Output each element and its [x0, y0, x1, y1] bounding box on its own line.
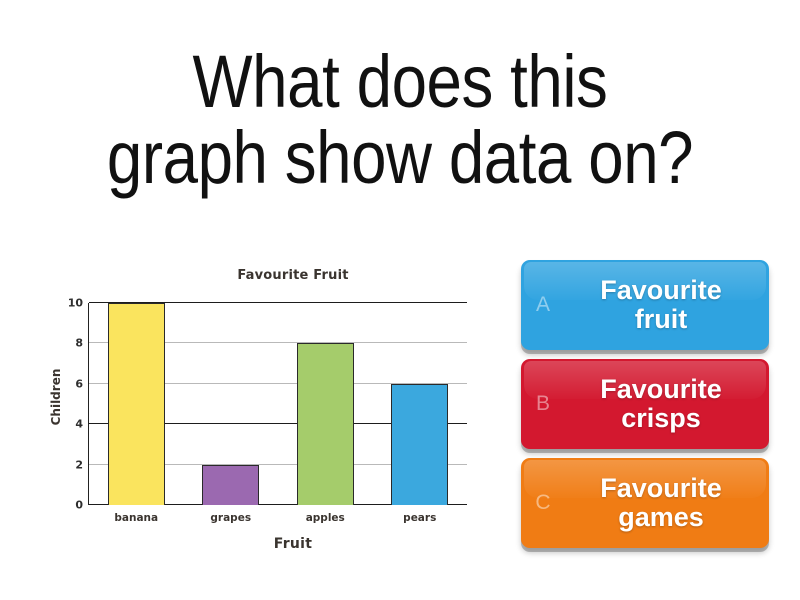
- x-tick-label: grapes: [185, 512, 276, 524]
- x-axis-label: Fruit: [88, 536, 498, 552]
- bar-slot: banana: [91, 303, 182, 505]
- bar-slot: pears: [374, 303, 465, 505]
- question-text: What does this graph show data on?: [56, 44, 744, 196]
- option-label: Favourite fruit: [565, 276, 769, 334]
- answer-option-b[interactable]: BFavourite crisps: [521, 359, 769, 449]
- quiz-screen: What does this graph show data on? Favou…: [0, 0, 800, 600]
- answer-option-c[interactable]: CFavourite games: [521, 458, 769, 548]
- bar-apples: [297, 343, 354, 505]
- bar-slot: grapes: [185, 303, 276, 505]
- y-tick-label: 4: [57, 418, 83, 431]
- answer-option-a[interactable]: AFavourite fruit: [521, 260, 769, 350]
- bar-banana: [108, 303, 165, 505]
- x-tick-label: apples: [280, 512, 371, 524]
- y-tick-label: 8: [57, 337, 83, 350]
- bar-slot: apples: [280, 303, 371, 505]
- y-tick-label: 6: [57, 377, 83, 390]
- bar-grapes: [202, 465, 259, 505]
- answer-options: AFavourite fruitBFavourite crispsCFavour…: [521, 260, 769, 557]
- y-axis-label: Children: [49, 337, 63, 457]
- option-label: Favourite crisps: [565, 375, 769, 433]
- option-letter: A: [521, 293, 565, 317]
- bar-series: bananagrapesapplespears: [89, 303, 467, 505]
- option-letter: C: [521, 491, 565, 515]
- bar-chart: Favourite Fruit Children 0246810 bananag…: [30, 262, 490, 562]
- bar-pears: [391, 384, 448, 505]
- plot-area: 0246810 bananagrapesapplespears: [88, 303, 467, 505]
- y-tick-label: 2: [57, 458, 83, 471]
- option-label: Favourite games: [565, 474, 769, 532]
- y-tick-label: 10: [57, 297, 83, 310]
- x-tick-label: banana: [91, 512, 182, 524]
- y-tick-label: 0: [57, 499, 83, 512]
- chart-title: Favourite Fruit: [88, 268, 498, 283]
- x-tick-label: pears: [374, 512, 465, 524]
- option-letter: B: [521, 392, 565, 416]
